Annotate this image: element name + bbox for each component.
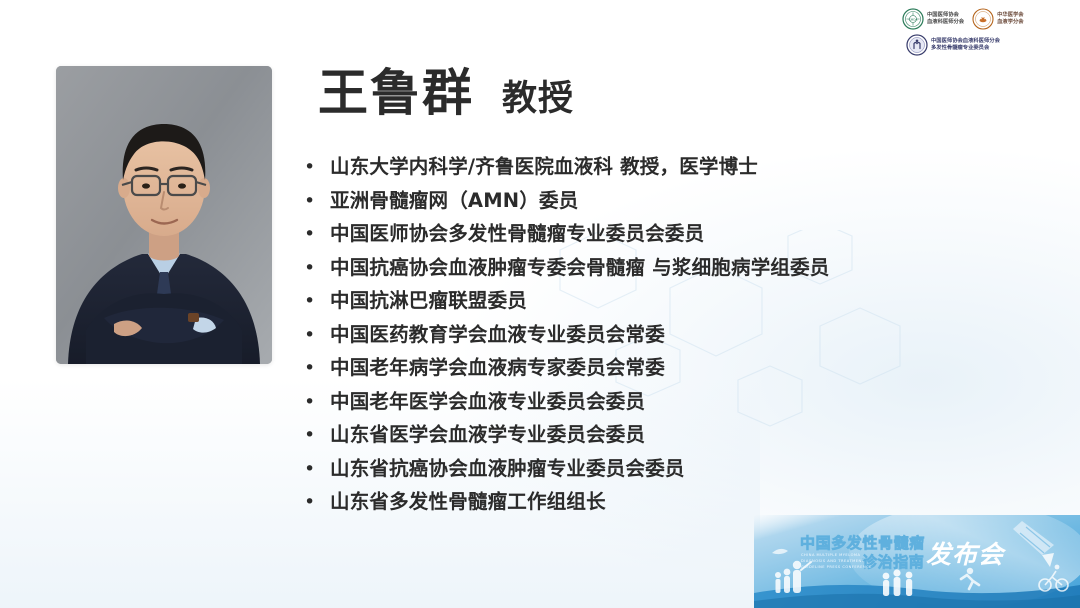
speaker-name: 王鲁群 (318, 68, 474, 118)
list-item-label: 中国抗癌协会血液肿瘤专委会骨髓瘤 与浆细胞病学组委员 (330, 253, 1020, 283)
logo-label-line1: 中国医师协会 (927, 12, 964, 19)
myeloma-committee-seal-icon (906, 34, 928, 56)
list-item: • 中国医师协会多发性骨髓瘤专业委员会委员 (300, 219, 1020, 253)
bullet-icon: • (300, 387, 330, 417)
credentials-list: • 山东大学内科学/齐鲁医院血液科 教授，医学博士 • 亚洲骨髓瘤网（AMN）委… (300, 152, 1020, 521)
list-item: • 中国抗癌协会血液肿瘤专委会骨髓瘤 与浆细胞病学组委员 (300, 253, 1020, 287)
bullet-icon: • (300, 253, 330, 283)
event-banner: 中国多发性骨髓瘤 诊治指南 发布会 CHINA MULTIPLE MYELOMA… (754, 515, 1080, 608)
svg-text:CMDA: CMDA (909, 17, 918, 21)
cmda-seal-icon: CMDA (902, 8, 924, 30)
bullet-icon: • (300, 286, 330, 316)
banner-subtitle-line2: DIAGNOSIS AND TREATMENT (801, 559, 865, 563)
logo-label-line2: 多发性骨髓瘤专业委员会 (931, 45, 1000, 52)
list-item: • 中国老年医学会血液专业委员会委员 (300, 387, 1020, 421)
list-item-label: 中国老年病学会血液病专家委员会常委 (330, 353, 1020, 383)
list-item: • 中国抗淋巴瘤联盟委员 (300, 286, 1020, 320)
list-item-label: 中国抗淋巴瘤联盟委员 (330, 286, 1020, 316)
logo-label-line1: 中华医学会 (997, 12, 1024, 19)
bullet-icon: • (300, 454, 330, 484)
logo-label-line2: 血液科医师分会 (927, 19, 964, 26)
banner-subtitle-line1: CHINA MULTIPLE MYELOMA (801, 553, 861, 557)
bullet-icon: • (300, 152, 330, 182)
bullet-icon: • (300, 186, 330, 216)
list-item-label: 中国医药教育学会血液专业委员会常委 (330, 320, 1020, 350)
list-item: • 中国医药教育学会血液专业委员会常委 (300, 320, 1020, 354)
bullet-icon: • (300, 353, 330, 383)
bullet-icon: • (300, 420, 330, 450)
bullet-icon: • (300, 320, 330, 350)
banner-title-accent: 发布会 (926, 540, 1007, 569)
list-item: • 中国老年病学会血液病专家委员会常委 (300, 353, 1020, 387)
speaker-portrait (56, 66, 272, 364)
list-item-label: 山东省抗癌协会血液肿瘤专业委员会委员 (330, 454, 1020, 484)
page-title: 王鲁群 教授 (318, 68, 574, 118)
list-item: • 山东大学内科学/齐鲁医院血液科 教授，医学博士 (300, 152, 1020, 186)
list-item-label: 中国医师协会多发性骨髓瘤专业委员会委员 (330, 219, 1020, 249)
logo-label-line2: 血液学分会 (997, 19, 1024, 26)
banner-title-line1: 中国多发性骨髓瘤 (800, 534, 925, 552)
logo-cmda-myeloma-committee: 中国医师协会血液科医师分会 多发性骨髓瘤专业委员会 (906, 34, 1000, 56)
list-item-label: 山东省多发性骨髓瘤工作组组长 (330, 487, 1020, 517)
logo-cma-hematology: 中华医学会 血液学分会 (972, 8, 1024, 30)
list-item: • 亚洲骨髓瘤网（AMN）委员 (300, 186, 1020, 220)
list-item: • 山东省抗癌协会血液肿瘤专业委员会委员 (300, 454, 1020, 488)
banner-subtitle-line3: GUIDELINE PRESS CONFERENCE (801, 565, 872, 569)
bullet-icon: • (300, 219, 330, 249)
list-item-label: 亚洲骨髓瘤网（AMN）委员 (330, 186, 1020, 216)
list-item-label: 山东大学内科学/齐鲁医院血液科 教授，医学博士 (330, 152, 1020, 182)
presentation-slide: 王鲁群 教授 • 山东大学内科学/齐鲁医院血液科 教授，医学博士 • 亚洲骨髓瘤… (0, 0, 1080, 608)
logo-cmda-hematology: CMDA 中国医师协会 血液科医师分会 (902, 8, 964, 30)
list-item: • 山东省医学会血液学专业委员会委员 (300, 420, 1020, 454)
list-item-label: 中国老年医学会血液专业委员会委员 (330, 387, 1020, 417)
organization-logos: CMDA 中国医师协会 血液科医师分会 中华医学会 血液学分会 (902, 8, 1070, 56)
speaker-role: 教授 (502, 82, 574, 117)
bullet-icon: • (300, 487, 330, 517)
cma-seal-icon (972, 8, 994, 30)
list-item-label: 山东省医学会血液学专业委员会委员 (330, 420, 1020, 450)
logo-label-line1: 中国医师协会血液科医师分会 (931, 38, 1000, 45)
